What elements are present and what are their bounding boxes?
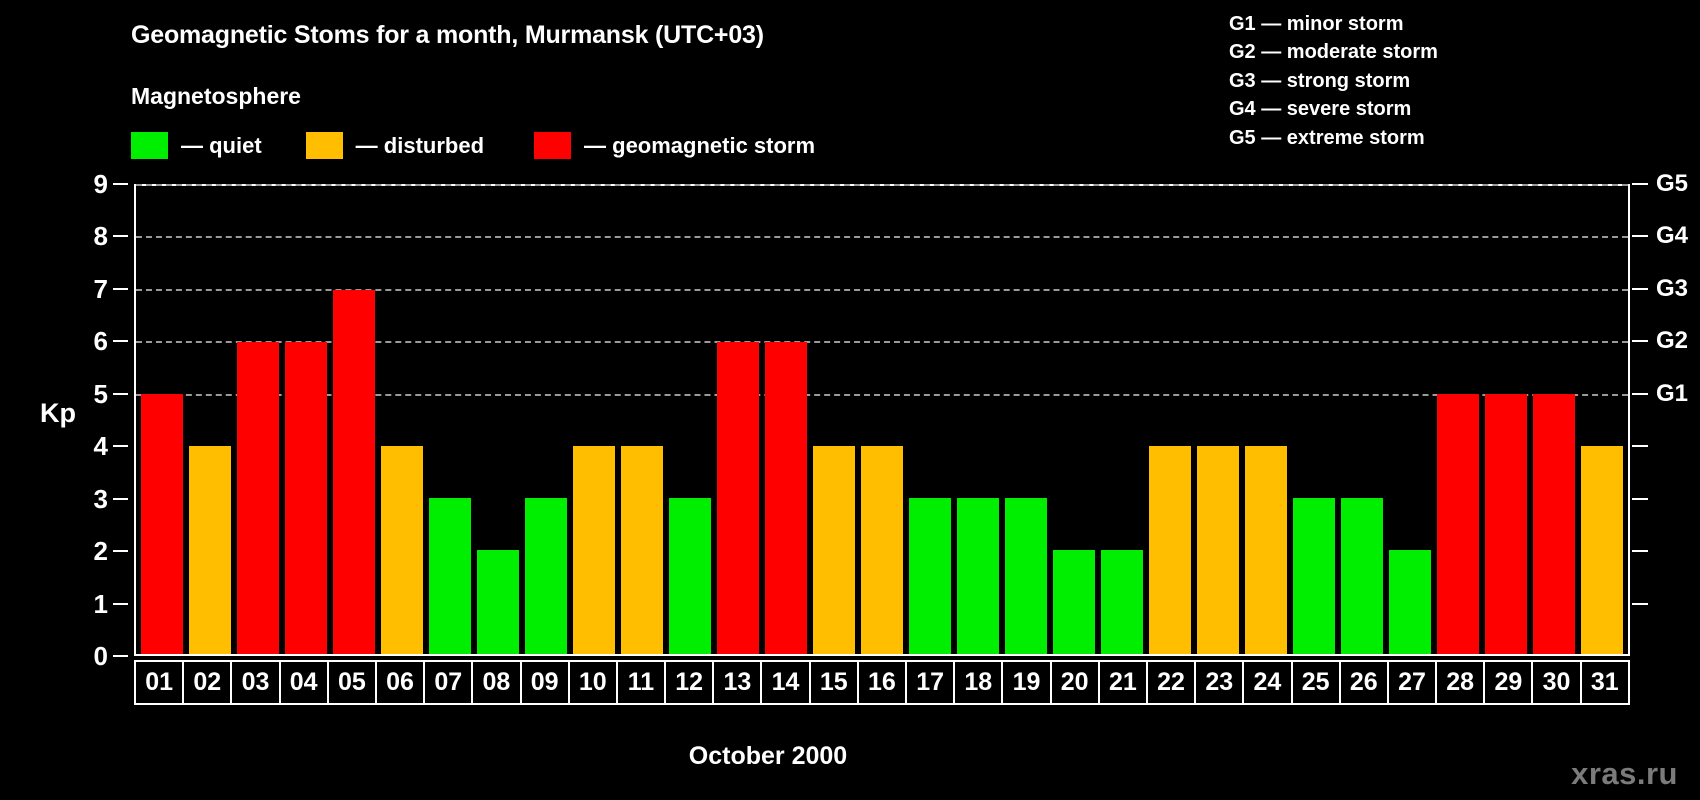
g-tick-label-G2: G2 [1656, 329, 1688, 353]
day-label-18[interactable]: 18 [955, 662, 1003, 703]
y-axis: 0123456789 [60, 184, 128, 656]
magnetosphere-heading: Magnetosphere [131, 83, 301, 110]
day-label-26[interactable]: 26 [1341, 662, 1389, 703]
day-label-03[interactable]: 03 [232, 662, 280, 703]
bar-cell-day-14[interactable] [762, 186, 810, 654]
x-axis-title: October 2000 [0, 742, 1700, 771]
g-tick-mark-G2 [1632, 340, 1648, 342]
bar-day-16[interactable] [861, 446, 903, 654]
legend-item-disturbed: — disturbed [306, 132, 484, 159]
bar-cell-day-08[interactable] [474, 186, 522, 654]
bar-cell-day-21[interactable] [1098, 186, 1146, 654]
bar-day-07[interactable] [429, 498, 471, 654]
g-tick-mark-minor-3 [1632, 498, 1648, 500]
g-scale-item-g5: G5 — extreme storm [1229, 124, 1438, 152]
day-label-29[interactable]: 29 [1485, 662, 1533, 703]
legend-item-storm: — geomagnetic storm [534, 132, 815, 159]
bar-day-29[interactable] [1485, 394, 1527, 654]
g-tick-mark-G1 [1632, 393, 1648, 395]
bar-series [136, 186, 1628, 654]
g-tick-label-G3: G3 [1656, 277, 1688, 301]
y-tick-label-8: 8 [94, 223, 108, 249]
bar-cell-day-19[interactable] [1002, 186, 1050, 654]
day-label-11[interactable]: 11 [618, 662, 666, 703]
day-label-19[interactable]: 19 [1003, 662, 1051, 703]
y-tick-label-4: 4 [94, 433, 108, 459]
bar-cell-day-18[interactable] [954, 186, 1002, 654]
bar-day-24[interactable] [1245, 446, 1287, 654]
legend-label-disturbed: — disturbed [356, 133, 484, 159]
g-tick-mark-G3 [1632, 288, 1648, 290]
day-label-24[interactable]: 24 [1244, 662, 1292, 703]
g-scale-item-g2: G2 — moderate storm [1229, 38, 1438, 66]
g-tick-label-G4: G4 [1656, 224, 1688, 248]
g-scale-item-g3: G3 — strong storm [1229, 67, 1438, 95]
bar-cell-day-22[interactable] [1146, 186, 1194, 654]
bar-cell-day-28[interactable] [1434, 186, 1482, 654]
legend: — quiet — disturbed — geomagnetic storm [131, 132, 815, 159]
bar-day-21[interactable] [1101, 550, 1143, 654]
y-tick-mark-0 [113, 655, 128, 657]
bar-cell-day-29[interactable] [1482, 186, 1530, 654]
y-tick-label-6: 6 [94, 328, 108, 354]
bar-day-19[interactable] [1005, 498, 1047, 654]
bar-cell-day-23[interactable] [1194, 186, 1242, 654]
chart-plot-area [134, 184, 1630, 656]
legend-swatch-quiet [131, 132, 168, 159]
legend-label-quiet: — quiet [181, 133, 262, 159]
watermark: xras.ru [1571, 756, 1678, 792]
bar-day-18[interactable] [957, 498, 999, 654]
bar-cell-day-02[interactable] [186, 186, 234, 654]
month-label-text: October 2000 [689, 742, 847, 771]
legend-swatch-storm [534, 132, 571, 159]
bar-cell-day-25[interactable] [1290, 186, 1338, 654]
bar-day-04[interactable] [285, 342, 327, 654]
y-tick-mark-7 [113, 288, 128, 290]
day-label-15[interactable]: 15 [811, 662, 859, 703]
page-title: Geomagnetic Stoms for a month, Murmansk … [131, 21, 764, 50]
y-tick-mark-9 [113, 183, 128, 185]
bar-day-11[interactable] [621, 446, 663, 654]
day-label-17[interactable]: 17 [907, 662, 955, 703]
bar-cell-day-31[interactable] [1578, 186, 1626, 654]
bar-day-08[interactable] [477, 550, 519, 654]
y-tick-label-2: 2 [94, 538, 108, 564]
y-tick-label-0: 0 [94, 643, 108, 669]
day-label-05[interactable]: 05 [329, 662, 377, 703]
g-tick-mark-minor-4 [1632, 445, 1648, 447]
bar-cell-day-15[interactable] [810, 186, 858, 654]
y-tick-mark-4 [113, 445, 128, 447]
day-label-08[interactable]: 08 [473, 662, 521, 703]
bar-day-03[interactable] [237, 342, 279, 654]
y-tick-label-7: 7 [94, 276, 108, 302]
y-tick-mark-1 [113, 603, 128, 605]
bar-cell-day-13[interactable] [714, 186, 762, 654]
bar-cell-day-05[interactable] [330, 186, 378, 654]
y-tick-mark-3 [113, 498, 128, 500]
bar-day-27[interactable] [1389, 550, 1431, 654]
day-label-12[interactable]: 12 [666, 662, 714, 703]
bar-day-26[interactable] [1341, 498, 1383, 654]
bar-day-10[interactable] [573, 446, 615, 654]
day-label-13[interactable]: 13 [714, 662, 762, 703]
y-tick-mark-6 [113, 340, 128, 342]
day-label-02[interactable]: 02 [184, 662, 232, 703]
day-label-20[interactable]: 20 [1052, 662, 1100, 703]
x-axis-day-labels: 0102030405060708091011121314151617181920… [134, 660, 1630, 705]
bar-day-05[interactable] [333, 290, 375, 654]
bar-cell-day-09[interactable] [522, 186, 570, 654]
bar-cell-day-24[interactable] [1242, 186, 1290, 654]
day-label-14[interactable]: 14 [762, 662, 810, 703]
day-label-07[interactable]: 07 [425, 662, 473, 703]
bar-cell-day-17[interactable] [906, 186, 954, 654]
legend-label-storm: — geomagnetic storm [584, 133, 815, 159]
g-axis: G1G2G3G4G5 [1632, 184, 1700, 656]
bar-day-30[interactable] [1533, 394, 1575, 654]
bar-day-17[interactable] [909, 498, 951, 654]
bar-day-20[interactable] [1053, 550, 1095, 654]
y-tick-mark-5 [113, 393, 128, 395]
g-scale-legend: G1 — minor storm G2 — moderate storm G3 … [1229, 10, 1438, 152]
bar-day-28[interactable] [1437, 394, 1479, 654]
day-label-16[interactable]: 16 [859, 662, 907, 703]
day-label-01[interactable]: 01 [136, 662, 184, 703]
bar-cell-day-07[interactable] [426, 186, 474, 654]
day-label-22[interactable]: 22 [1148, 662, 1196, 703]
bar-cell-day-06[interactable] [378, 186, 426, 654]
day-label-28[interactable]: 28 [1437, 662, 1485, 703]
bar-cell-day-01[interactable] [138, 186, 186, 654]
bar-day-06[interactable] [381, 446, 423, 654]
g-tick-label-G1: G1 [1656, 382, 1688, 406]
bar-day-12[interactable] [669, 498, 711, 654]
g-tick-label-G5: G5 [1656, 172, 1688, 196]
y-tick-mark-2 [113, 550, 128, 552]
y-tick-label-9: 9 [94, 171, 108, 197]
bar-day-02[interactable] [189, 446, 231, 654]
day-label-04[interactable]: 04 [281, 662, 329, 703]
bar-cell-day-26[interactable] [1338, 186, 1386, 654]
bar-cell-day-11[interactable] [618, 186, 666, 654]
bar-day-13[interactable] [717, 342, 759, 654]
bar-day-31[interactable] [1581, 446, 1623, 654]
day-label-09[interactable]: 09 [522, 662, 570, 703]
bar-day-01[interactable] [141, 394, 183, 654]
bar-day-25[interactable] [1293, 498, 1335, 654]
g-tick-mark-minor-1 [1632, 603, 1648, 605]
day-label-31[interactable]: 31 [1582, 662, 1628, 703]
g-scale-item-g4: G4 — severe storm [1229, 95, 1438, 123]
bar-day-09[interactable] [525, 498, 567, 654]
g-tick-mark-G4 [1632, 235, 1648, 237]
g-scale-item-g1: G1 — minor storm [1229, 10, 1438, 38]
bar-cell-day-03[interactable] [234, 186, 282, 654]
bar-day-14[interactable] [765, 342, 807, 654]
legend-swatch-disturbed [306, 132, 343, 159]
day-label-23[interactable]: 23 [1196, 662, 1244, 703]
day-label-27[interactable]: 27 [1389, 662, 1437, 703]
g-tick-mark-minor-2 [1632, 550, 1648, 552]
bar-day-15[interactable] [813, 446, 855, 654]
bar-cell-day-27[interactable] [1386, 186, 1434, 654]
bar-day-23[interactable] [1197, 446, 1239, 654]
bar-day-22[interactable] [1149, 446, 1191, 654]
bar-cell-day-10[interactable] [570, 186, 618, 654]
y-tick-label-3: 3 [94, 486, 108, 512]
y-tick-label-1: 1 [94, 591, 108, 617]
day-label-21[interactable]: 21 [1100, 662, 1148, 703]
bar-cell-day-30[interactable] [1530, 186, 1578, 654]
bar-cell-day-04[interactable] [282, 186, 330, 654]
bar-cell-day-12[interactable] [666, 186, 714, 654]
day-label-06[interactable]: 06 [377, 662, 425, 703]
y-tick-mark-8 [113, 235, 128, 237]
bar-cell-day-20[interactable] [1050, 186, 1098, 654]
bar-cell-day-16[interactable] [858, 186, 906, 654]
y-tick-label-5: 5 [94, 381, 108, 407]
day-label-30[interactable]: 30 [1533, 662, 1581, 703]
day-label-10[interactable]: 10 [570, 662, 618, 703]
day-label-25[interactable]: 25 [1293, 662, 1341, 703]
legend-item-quiet: — quiet [131, 132, 262, 159]
g-tick-mark-G5 [1632, 183, 1648, 185]
